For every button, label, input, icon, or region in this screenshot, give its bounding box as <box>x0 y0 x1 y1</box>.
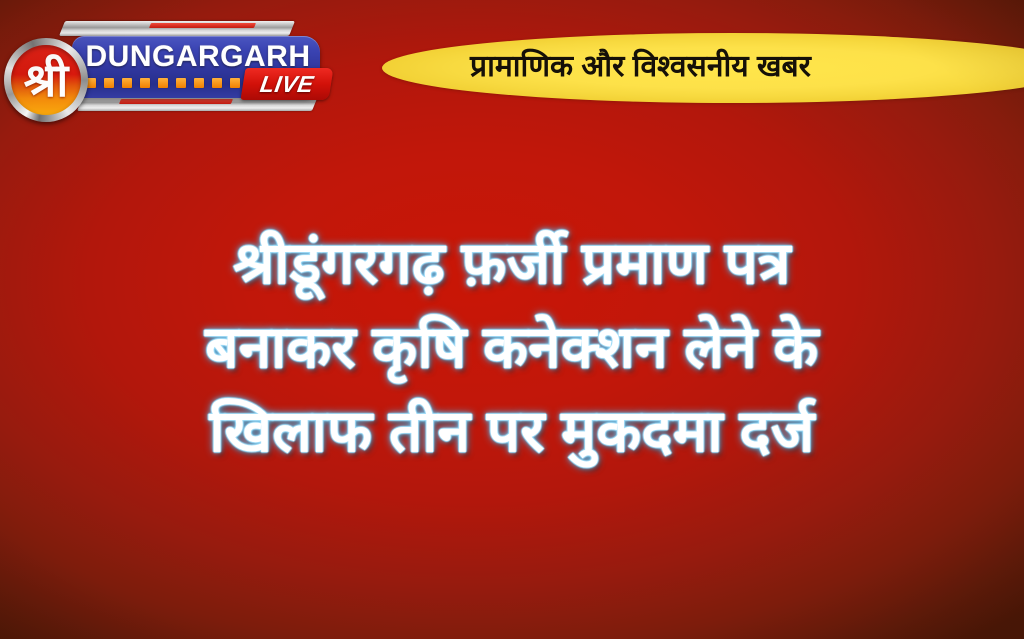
dash-segment-icon <box>176 78 186 88</box>
dash-segment-icon <box>230 78 240 88</box>
channel-logo-block[interactable]: DUNGARGARH LIVE श्री <box>0 16 345 114</box>
dash-segment-icon <box>104 78 114 88</box>
tagline-text: प्रामाणिक और विश्वसनीय खबर <box>470 43 1010 91</box>
headline-block: श्रीडूंगरगढ़ फ़र्जी प्रमाण पत्र बनाकर कृ… <box>40 222 984 474</box>
dash-segment-icon <box>158 78 168 88</box>
chrome-accent-bottom-stripe-icon <box>119 99 233 104</box>
headline-line-3: खिलाफ तीन पर मुकदमा दर्ज <box>40 390 984 474</box>
emblem-face: श्री <box>11 45 81 115</box>
dash-segment-icon <box>194 78 204 88</box>
chrome-accent-top-stripe-icon <box>149 23 256 28</box>
live-badge: LIVE <box>240 68 333 100</box>
dash-segment-icon <box>140 78 150 88</box>
dash-segment-icon <box>122 78 132 88</box>
shri-circular-emblem-icon: श्री <box>4 38 88 122</box>
dash-segment-icon <box>212 78 222 88</box>
headline-line-1: श्रीडूंगरगढ़ फ़र्जी प्रमाण पत्र <box>40 222 984 306</box>
headline-line-2: बनाकर कृषि कनेक्शन लेने के <box>40 306 984 390</box>
live-badge-label: LIVE <box>240 68 333 100</box>
news-graphic-card: DUNGARGARH LIVE श्री प्रामाणिक और विश्वस… <box>0 0 1024 639</box>
emblem-glyph-text: श्री <box>11 45 81 115</box>
